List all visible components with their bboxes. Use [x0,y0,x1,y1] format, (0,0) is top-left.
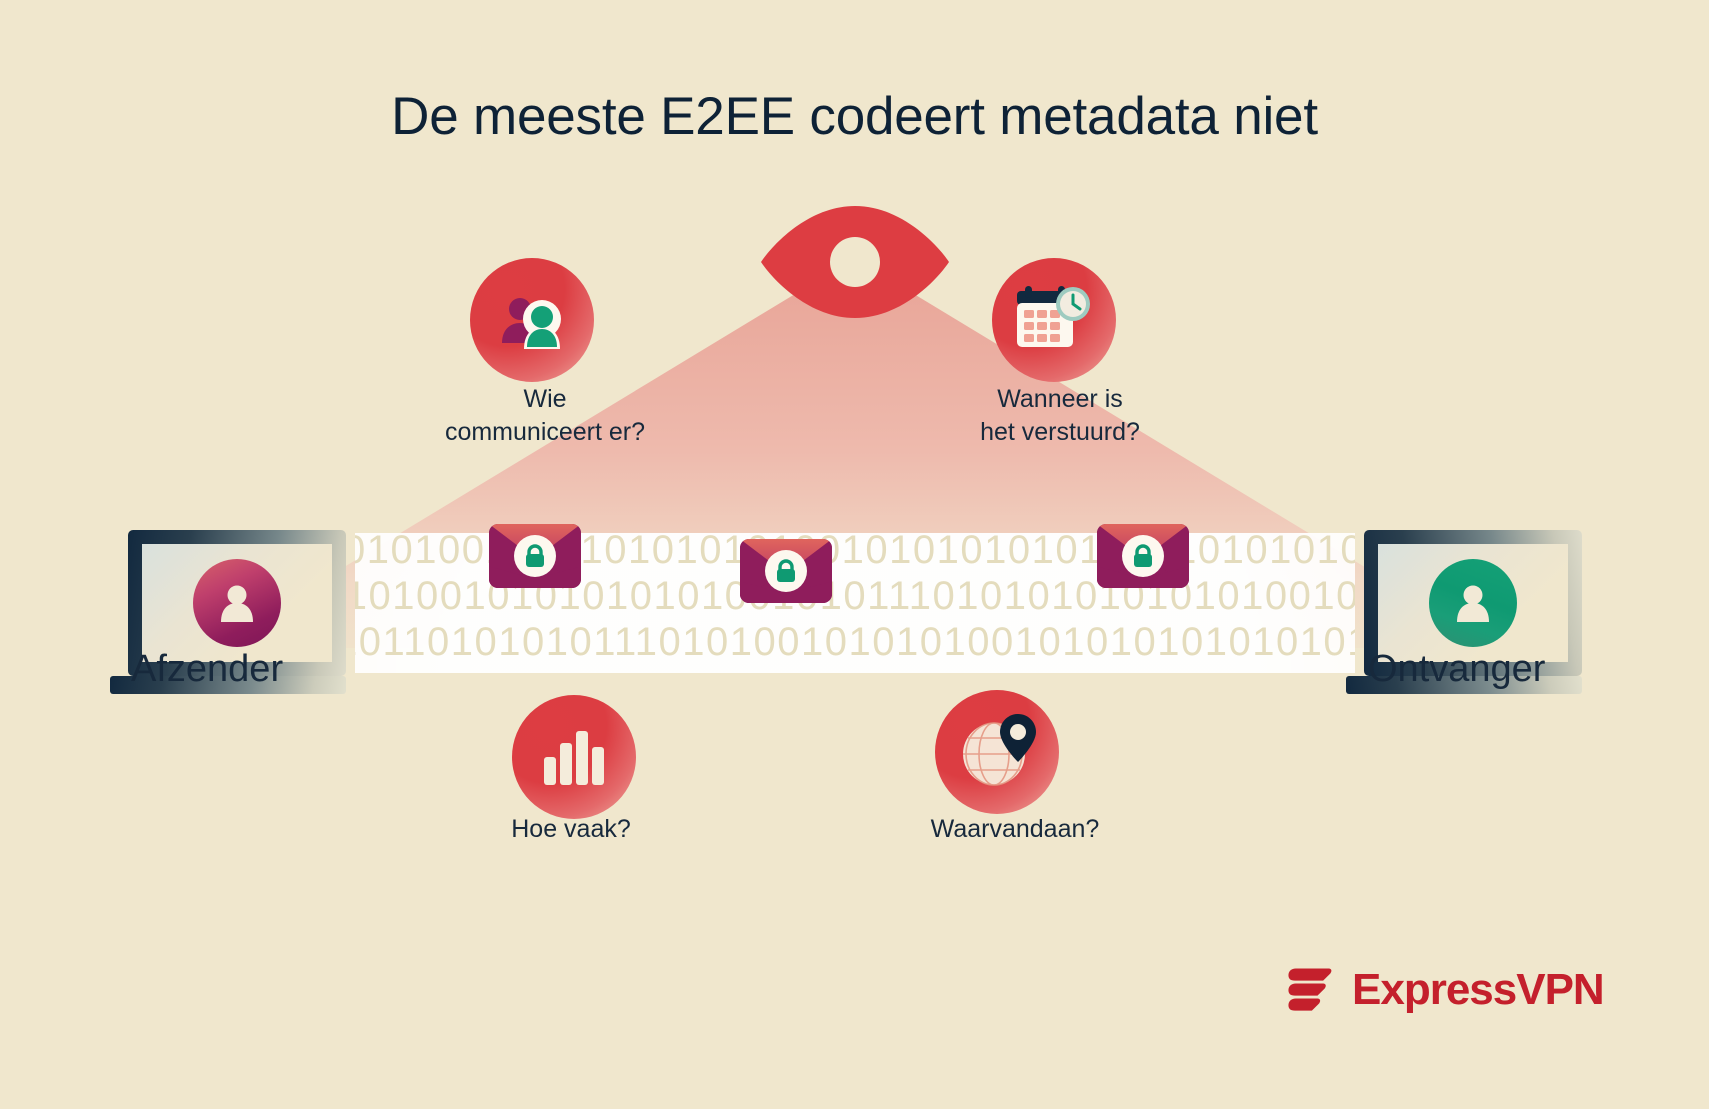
two-people-icon [496,289,568,351]
locked-envelope-icon[interactable] [1097,524,1189,588]
envelope-lock-disc [765,550,807,592]
sender-label: Afzender [131,648,283,691]
person-icon [214,580,260,626]
lock-icon [524,544,546,568]
infographic-canvas: De meeste E2EE codeert metadata niet Wie… [0,0,1709,1109]
lock-icon [775,559,797,583]
bar-chart-icon [542,729,606,785]
user-avatar-green [1429,559,1517,647]
metadata-label-how-often: Hoe vaak? [456,813,686,846]
page-title: De meeste E2EE codeert metadata niet [0,86,1709,147]
metadata-icon-when[interactable] [992,258,1116,382]
expressvpn-logo[interactable]: ExpressVPN [1280,960,1604,1020]
lock-icon [1132,544,1154,568]
laptop-screen [142,544,332,662]
laptop-screen [1378,544,1568,662]
expressvpn-logo-icon [1280,960,1340,1020]
globe-pin-icon [956,712,1038,792]
locked-envelope-icon[interactable] [489,524,581,588]
receiver-label: Ontvanger [1368,648,1545,691]
envelope-lock-disc [514,535,556,577]
metadata-label-where: Waarvandaan? [870,813,1160,846]
calendar-clock-icon [1015,285,1093,355]
metadata-label-who: Wie communiceert er? [375,383,715,449]
expressvpn-wordmark: ExpressVPN [1352,965,1604,1015]
binary-row: 1011010101011101010010101010010101010101… [355,619,1355,665]
envelope-lock-disc [1122,535,1164,577]
metadata-label-when: Wanneer is het verstuurd? [890,383,1230,449]
metadata-icon-how-often[interactable] [512,695,636,819]
metadata-icon-where[interactable] [935,690,1059,814]
metadata-icon-who[interactable] [470,258,594,382]
user-avatar-purple [193,559,281,647]
eye-icon [759,202,951,322]
locked-envelope-icon[interactable] [740,539,832,603]
person-icon [1450,580,1496,626]
